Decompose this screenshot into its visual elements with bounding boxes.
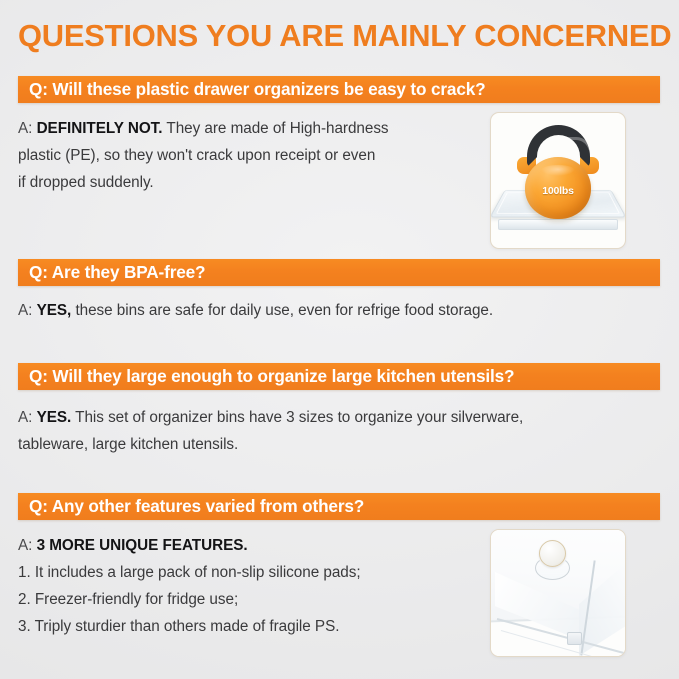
feature-list-item: 2. Freezer-friendly for fridge use; — [18, 586, 473, 613]
question-bar-4: Q: Any other features varied from others… — [18, 493, 660, 520]
answer-text: They are made of High-hardness — [166, 120, 388, 137]
question-text-2: Q: Are they BPA-free? — [29, 259, 205, 286]
answer-emphasis: 3 MORE UNIQUE FEATURES. — [37, 537, 248, 554]
question-text-3: Q: Will they large enough to organize la… — [29, 363, 514, 390]
answer-block-2: A: YES, these bins are safe for daily us… — [18, 297, 648, 324]
answer-line: A: YES. This set of organizer bins have … — [18, 404, 648, 431]
answer-emphasis: YES. — [37, 409, 72, 426]
feature-list-item: 1. It includes a large pack of non-slip … — [18, 559, 473, 586]
answer-line: A: 3 MORE UNIQUE FEATURES. — [18, 532, 473, 559]
kettlebell-handle-icon — [527, 125, 590, 167]
answer-block-3: A: YES. This set of organizer bins have … — [18, 404, 648, 458]
feature-list-item: 3. Triply sturdier than others made of f… — [18, 613, 473, 640]
answer-lead: A: — [18, 120, 32, 137]
answer-emphasis: YES, — [37, 302, 72, 319]
product-image-kettlebell-on-clear-bin: 100lbs — [490, 112, 626, 249]
answer-line: A: DEFINITELY NOT. They are made of High… — [18, 115, 468, 142]
answer-line: if dropped suddenly. — [18, 169, 468, 196]
faq-infographic: QUESTIONS YOU ARE MAINLY CONCERNED Q: Wi… — [0, 0, 679, 679]
answer-emphasis: DEFINITELY NOT. — [37, 120, 163, 137]
bin-foot — [567, 632, 582, 645]
answer-line: plastic (PE), so they won't crack upon r… — [18, 142, 468, 169]
kettlebell-weight-label: 100lbs — [525, 185, 591, 197]
product-image-bin-corner-with-silicone-pad — [490, 529, 626, 657]
answer-block-1: A: DEFINITELY NOT. They are made of High… — [18, 115, 468, 196]
question-text-1: Q: Will these plastic drawer organizers … — [29, 76, 486, 103]
answer-lead: A: — [18, 302, 32, 319]
answer-lead: A: — [18, 409, 32, 426]
question-bar-1: Q: Will these plastic drawer organizers … — [18, 76, 660, 103]
answer-line: tableware, large kitchen utensils. — [18, 431, 648, 458]
answer-text: This set of organizer bins have 3 sizes … — [75, 409, 523, 426]
answer-text: these bins are safe for daily use, even … — [75, 302, 493, 319]
question-bar-3: Q: Will they large enough to organize la… — [18, 363, 660, 390]
question-bar-2: Q: Are they BPA-free? — [18, 259, 660, 286]
answer-block-4: A: 3 MORE UNIQUE FEATURES. 1. It include… — [18, 532, 473, 640]
silicone-pad-scene — [491, 530, 625, 656]
clear-bin-lip — [498, 219, 618, 230]
answer-line: A: YES, these bins are safe for daily us… — [18, 297, 648, 324]
silicone-pad-icon — [539, 540, 566, 567]
kettlebell-scene: 100lbs — [491, 113, 625, 248]
page-title: QUESTIONS YOU ARE MAINLY CONCERNED — [18, 14, 671, 58]
answer-lead: A: — [18, 537, 32, 554]
question-text-4: Q: Any other features varied from others… — [29, 493, 364, 520]
